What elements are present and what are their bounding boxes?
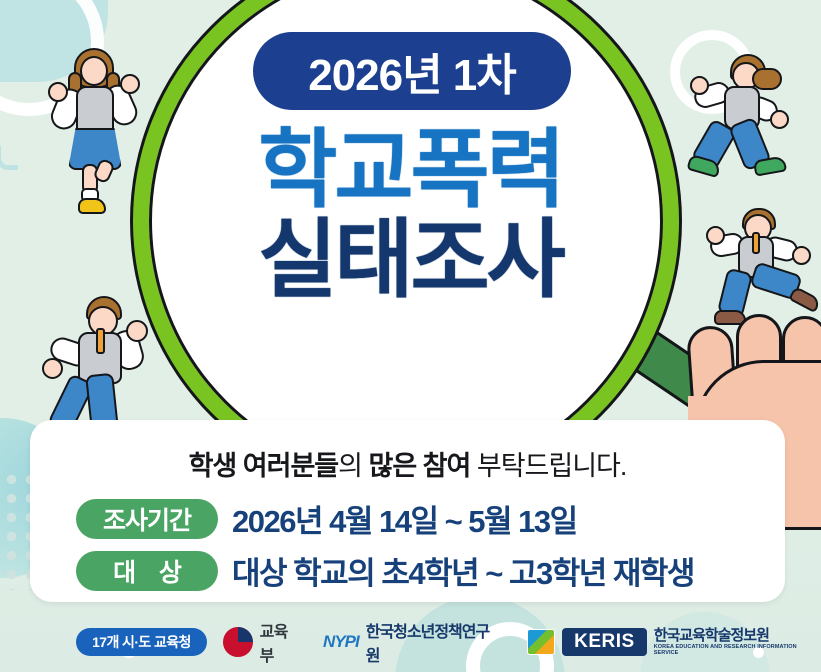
survey-target-label: 대 상 (76, 551, 218, 591)
nypi-mark-icon: NYPI (323, 632, 359, 652)
keris-logo: KERIS 한국교육학술정보원 KOREA EDUCATION AND RESE… (527, 628, 821, 656)
keris-mark-icon (527, 629, 555, 655)
moe-logo: 교육부 (223, 618, 301, 666)
education-offices-pill: 17개 시·도 교육청 (76, 628, 207, 656)
keris-badge-label: KERIS (562, 628, 647, 656)
survey-period-value: 2026년 4월 14일 ~ 5월 13일 (232, 496, 577, 541)
poster-title-line1: 학교폭력 (0, 126, 821, 215)
survey-period-row: 조사기간 2026년 4월 14일 ~ 5월 13일 (76, 496, 577, 541)
info-card: 학생 여러분들의 많은 참여 부탁드립니다. 조사기간 2026년 4월 14일… (30, 420, 785, 602)
headline-bold-2: 많은 참여 (368, 451, 470, 481)
nypi-logo: NYPI 한국청소년정책연구원 (323, 618, 501, 666)
poster-canvas: 2026년 1차 학교폭력 실태조사 학생 여러분들의 많은 참여 부탁드립니다… (0, 0, 821, 672)
headline-bold-1: 학생 여러분들 (189, 451, 339, 481)
poster-title-line2: 실태조사 (0, 216, 821, 305)
keris-text-block: 한국교육학술정보원 KOREA EDUCATION AND RESEARCH I… (654, 628, 821, 656)
footer-logo-bar: 17개 시·도 교육청 교육부 NYPI 한국청소년정책연구원 KERIS 한국… (0, 612, 821, 672)
moe-label: 교육부 (260, 618, 301, 666)
keris-english-label: KOREA EDUCATION AND RESEARCH INFORMATION… (654, 644, 821, 656)
survey-target-value: 대상 학교의 초4학년 ~ 고3학년 재학생 (232, 548, 694, 593)
card-headline: 학생 여러분들의 많은 참여 부탁드립니다. (30, 444, 785, 483)
headline-plain-2: 부탁드립니다. (470, 451, 626, 481)
year-badge: 2026년 1차 (253, 32, 571, 110)
year-badge-label: 2026년 1차 (308, 39, 516, 103)
headline-plain-1: 의 (338, 451, 368, 481)
survey-target-row: 대 상 대상 학교의 초4학년 ~ 고3학년 재학생 (76, 548, 694, 593)
taeguk-icon (223, 627, 253, 657)
survey-period-label: 조사기간 (76, 499, 218, 539)
keris-korean-label: 한국교육학술정보원 (654, 628, 821, 644)
nypi-label: 한국청소년정책연구원 (366, 618, 502, 666)
